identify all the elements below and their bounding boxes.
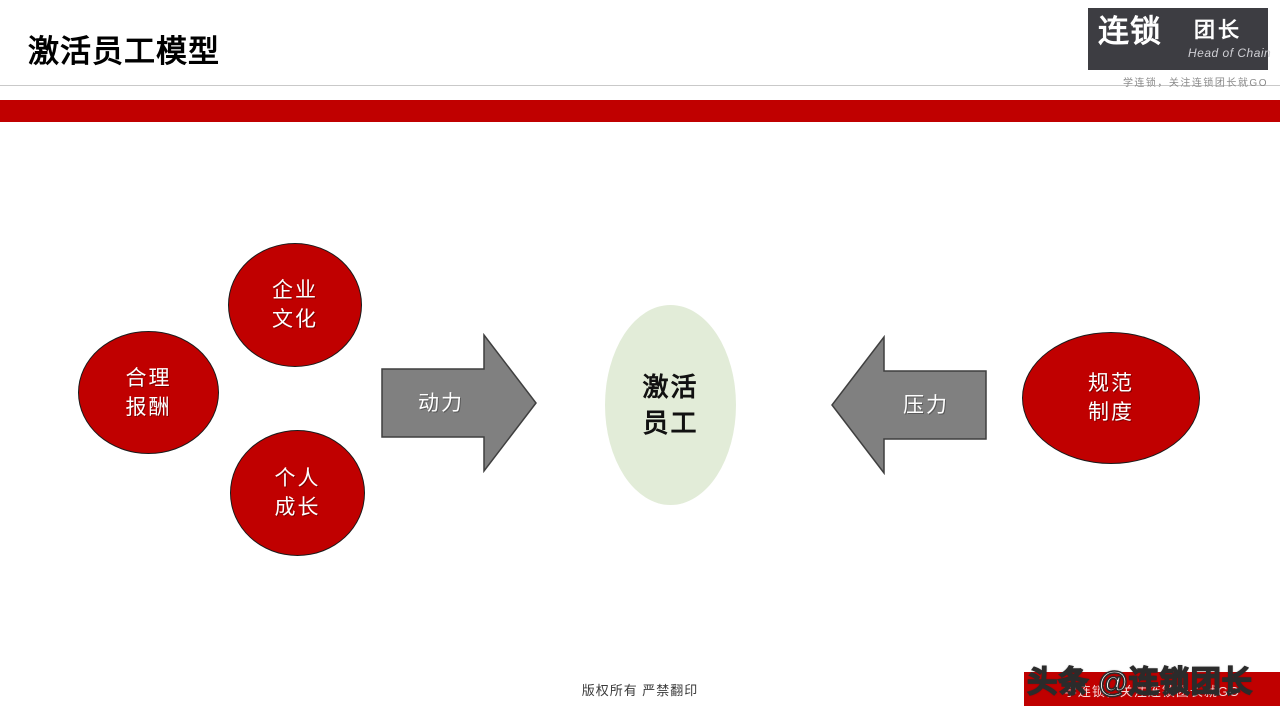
header-accent-bar: [0, 100, 1280, 122]
node-label-line2: 文化: [272, 305, 318, 334]
node-personal-growth[interactable]: 个人 成长: [230, 430, 365, 556]
logo-english-text: Head of Chain: [1188, 46, 1271, 60]
center-label-line1: 激活: [642, 369, 698, 405]
logo-plate: 连锁 团长 Head of Chain: [1088, 8, 1268, 70]
center-label-line2: 员工: [642, 405, 698, 441]
arrow-motivation: 动力: [380, 333, 538, 473]
node-label-line2: 报酬: [126, 393, 172, 422]
footer-brand-bar: 学连锁，关注连锁团长就GO: [1024, 672, 1280, 706]
node-label-line2: 制度: [1088, 398, 1134, 427]
node-label-line1: 个人: [275, 464, 321, 493]
node-label-line1: 合理: [126, 364, 172, 393]
arrow-pressure: 压力: [828, 335, 988, 475]
logo-sub-text: 团长: [1194, 18, 1242, 44]
footer-brand-bar-text: 学连锁，关注连锁团长就GO: [1024, 681, 1280, 700]
page-title: 激活员工模型: [28, 30, 220, 74]
node-label-line1: 企业: [272, 276, 318, 305]
diagram-canvas: 企业 文化 合理 报酬 个人 成长 动力 激活 员工 压力 规范 制度: [0, 122, 1280, 652]
node-standard-system[interactable]: 规范 制度: [1022, 332, 1200, 464]
node-label-line1: 规范: [1088, 369, 1134, 398]
node-label-line2: 成长: [275, 493, 321, 522]
arrow-left-icon: [828, 335, 988, 475]
arrow-right-icon: [380, 333, 538, 473]
slide-header: 激活员工模型 连锁 团长 Head of Chain 学连锁，关注连锁团长就GO: [0, 0, 1280, 100]
logo-main-text: 连锁: [1098, 14, 1162, 50]
brand-logo: 连锁 团长 Head of Chain 学连锁，关注连锁团长就GO: [1088, 8, 1268, 70]
node-activate-employee[interactable]: 激活 员工: [605, 305, 736, 505]
node-fair-pay[interactable]: 合理 报酬: [78, 331, 219, 454]
node-enterprise-culture[interactable]: 企业 文化: [228, 243, 362, 367]
logo-tagline: 学连锁，关注连锁团长就GO: [1088, 74, 1268, 89]
